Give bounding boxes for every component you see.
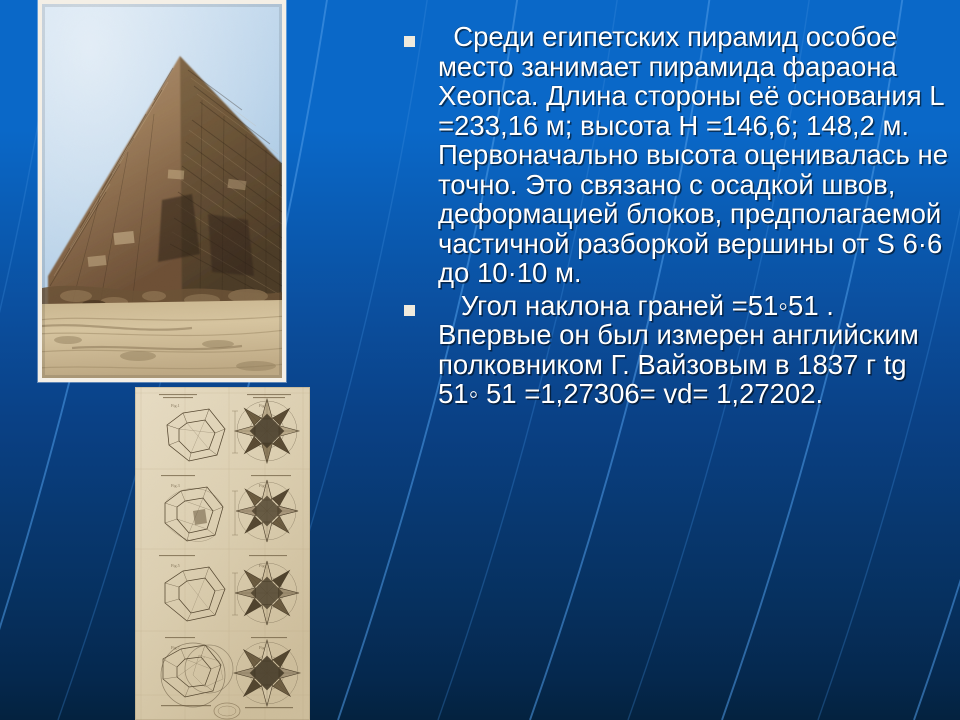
bullet-item-2-text: Угол наклона граней =51◦51 . Впервые он … — [438, 291, 952, 409]
bullet-item-1: Среди египетских пирамид особое место за… — [404, 22, 952, 288]
great-pyramid-photo — [42, 4, 282, 378]
polyhedra-plate-artwork: Fig.1 Fig.2 Fig.3 Fig.4 Fig.5 Fig.6 Fig.… — [135, 387, 310, 720]
square-bullet-icon — [404, 305, 415, 316]
bullet-item-1-text: Среди египетских пирамид особое место за… — [438, 22, 952, 288]
pyramid-photo-artwork — [42, 4, 282, 378]
presentation-slide: Fig.1 Fig.2 Fig.3 Fig.4 Fig.5 Fig.6 Fig.… — [0, 0, 960, 720]
square-bullet-icon — [404, 36, 415, 47]
slide-body-text: Среди египетских пирамид особое место за… — [404, 22, 952, 409]
bullet-item-2: Угол наклона граней =51◦51 . Впервые он … — [404, 291, 952, 409]
polyhedra-plate: Fig.1 Fig.2 Fig.3 Fig.4 Fig.5 Fig.6 Fig.… — [135, 387, 310, 720]
great-pyramid-photo-frame — [38, 0, 286, 382]
polyhedra-plate-frame: Fig.1 Fig.2 Fig.3 Fig.4 Fig.5 Fig.6 Fig.… — [135, 387, 310, 720]
